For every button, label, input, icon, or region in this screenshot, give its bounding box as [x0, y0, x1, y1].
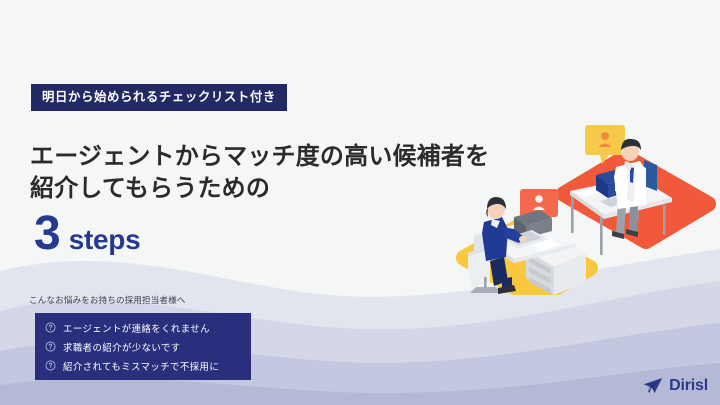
checklist-badge: 明日から始められるチェックリスト付き: [31, 84, 287, 111]
brand-logo-text: Dirisl: [669, 378, 708, 394]
list-item-label: エージェントが連絡をくれません: [63, 321, 210, 335]
paper-plane-icon: [643, 377, 663, 394]
steps-heading: 3 steps: [34, 210, 140, 258]
isometric-two-desks-illustration: [440, 105, 720, 295]
steps-word: steps: [69, 226, 141, 254]
list-item: 求職者の紹介が少ないです: [45, 337, 251, 356]
list-item-label: 求職者の紹介が少ないです: [63, 340, 181, 354]
slide-root: 明日から始められるチェックリスト付き エージェントからマッチ度の高い候補者を 紹…: [0, 0, 720, 405]
list-item: エージェントが連絡をくれません: [45, 318, 251, 337]
question-circle-icon: [45, 322, 56, 333]
question-circle-icon: [45, 341, 56, 352]
question-circle-icon: [45, 360, 56, 371]
list-item: 紹介されてもミスマッチで不採用に: [45, 356, 251, 375]
list-item-label: 紹介されてもミスマッチで不採用に: [63, 359, 219, 373]
page-title: エージェントからマッチ度の高い候補者を 紹介してもらうための: [30, 141, 489, 205]
steps-number: 3: [34, 210, 60, 258]
pain-point-box: エージェントが連絡をくれません 求職者の紹介が少ないです 紹介されてもミスマッチ…: [35, 313, 251, 380]
brand-logo[interactable]: Dirisl: [643, 377, 708, 394]
painbox-caption: こんなお悩みをお持ちの採用担当者様へ: [29, 294, 186, 306]
